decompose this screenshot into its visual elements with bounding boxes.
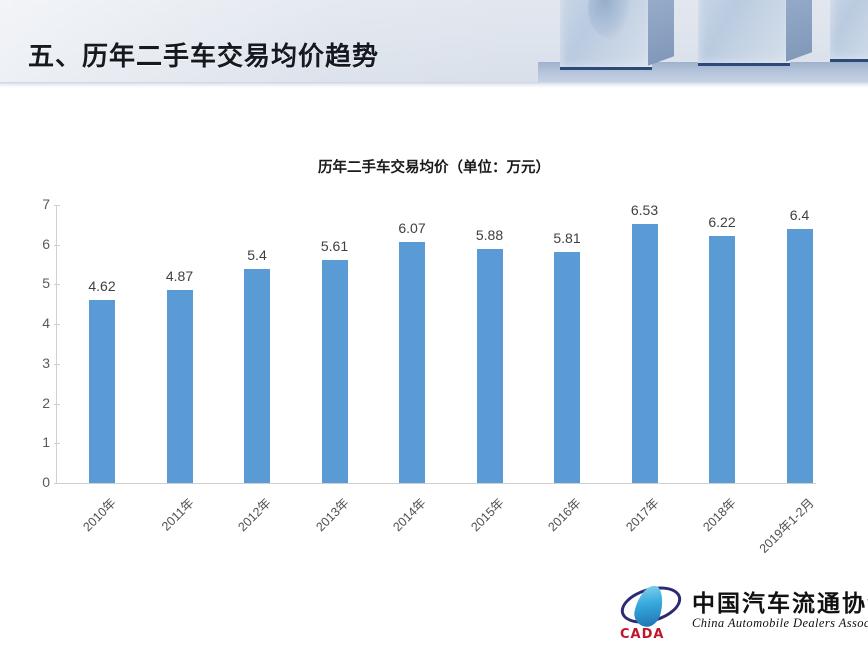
globe-icon [588,0,630,40]
artwork-cube-center [698,0,790,66]
y-tick-label: 5 [22,275,50,291]
bar-value-label: 5.81 [532,230,602,246]
slide-body: 历年二手车交易均价（单位：万元） 01234567 4.624.875.45.6… [0,88,868,650]
bar [477,249,503,483]
cube-front-face [830,0,868,62]
bar-value-label: 6.53 [610,202,680,218]
logo-name-cn: 中国汽车流通协会 [692,584,868,618]
x-tick-label: 2015年 [423,493,507,577]
bar-value-label: 5.4 [222,247,292,263]
x-tick-label: 2016年 [500,493,584,577]
y-tick-mark [54,443,60,444]
bar-value-label: 5.61 [300,238,370,254]
y-tick-label: 0 [22,474,50,490]
y-tick-mark [54,483,60,484]
cube-front-face [698,0,790,66]
y-tick-label: 2 [22,395,50,411]
bar [709,236,735,483]
bar-value-label: 6.07 [377,220,447,236]
page-title: 五、历年二手车交易均价趋势 [28,36,379,73]
x-tick-label: 2017年 [578,493,662,577]
bar [244,269,270,483]
artwork-cube-right [830,0,868,62]
chart-title: 历年二手车交易均价（单位：万元） [0,156,868,177]
x-tick-label: 2014年 [345,493,429,577]
y-tick-label: 4 [22,315,50,331]
bar [632,224,658,483]
x-tick-label: 2019年1-2月 [733,493,817,577]
bar [399,242,425,483]
logo-name-en: China Automobile Dealers Association [692,616,868,631]
bar [167,290,193,483]
y-tick-mark [54,364,60,365]
y-tick-mark [54,245,60,246]
x-tick-label: 2010年 [35,493,119,577]
bar-value-label: 4.87 [145,268,215,284]
bar [787,229,813,483]
bar [554,252,580,483]
y-tick-label: 6 [22,236,50,252]
bar-value-label: 6.4 [765,207,835,223]
y-tick-mark [54,324,60,325]
bar [89,300,115,483]
y-axis-line [56,205,57,483]
x-tick-label: 2018年 [655,493,739,577]
bar [322,260,348,483]
x-axis-line [56,483,816,484]
bar-value-label: 6.22 [687,214,757,230]
y-tick-mark [54,284,60,285]
cube-side-face [786,0,812,62]
bar-chart: 01234567 4.624.875.45.616.075.885.816.53… [56,205,816,483]
organization-logo: CADA 中国汽车流通协会 China Automobile Dealers A… [618,580,850,642]
bar-value-label: 5.88 [455,227,525,243]
y-tick-mark [54,404,60,405]
x-tick-label: 2011年 [113,493,197,577]
y-tick-mark [54,205,60,206]
cube-side-face [648,0,674,66]
slide-header: 五、历年二手车交易均价趋势 [0,0,868,88]
x-tick-label: 2012年 [190,493,274,577]
cube-front-face [560,0,652,70]
artwork-cube-left [560,0,652,70]
y-axis-labels: 01234567 [16,205,50,483]
x-tick-label: 2013年 [268,493,352,577]
logo-acronym: CADA [620,627,664,642]
y-tick-label: 1 [22,434,50,450]
y-tick-label: 3 [22,355,50,371]
bar-value-label: 4.62 [67,278,137,294]
header-artwork [538,0,868,88]
y-tick-label: 7 [22,196,50,212]
